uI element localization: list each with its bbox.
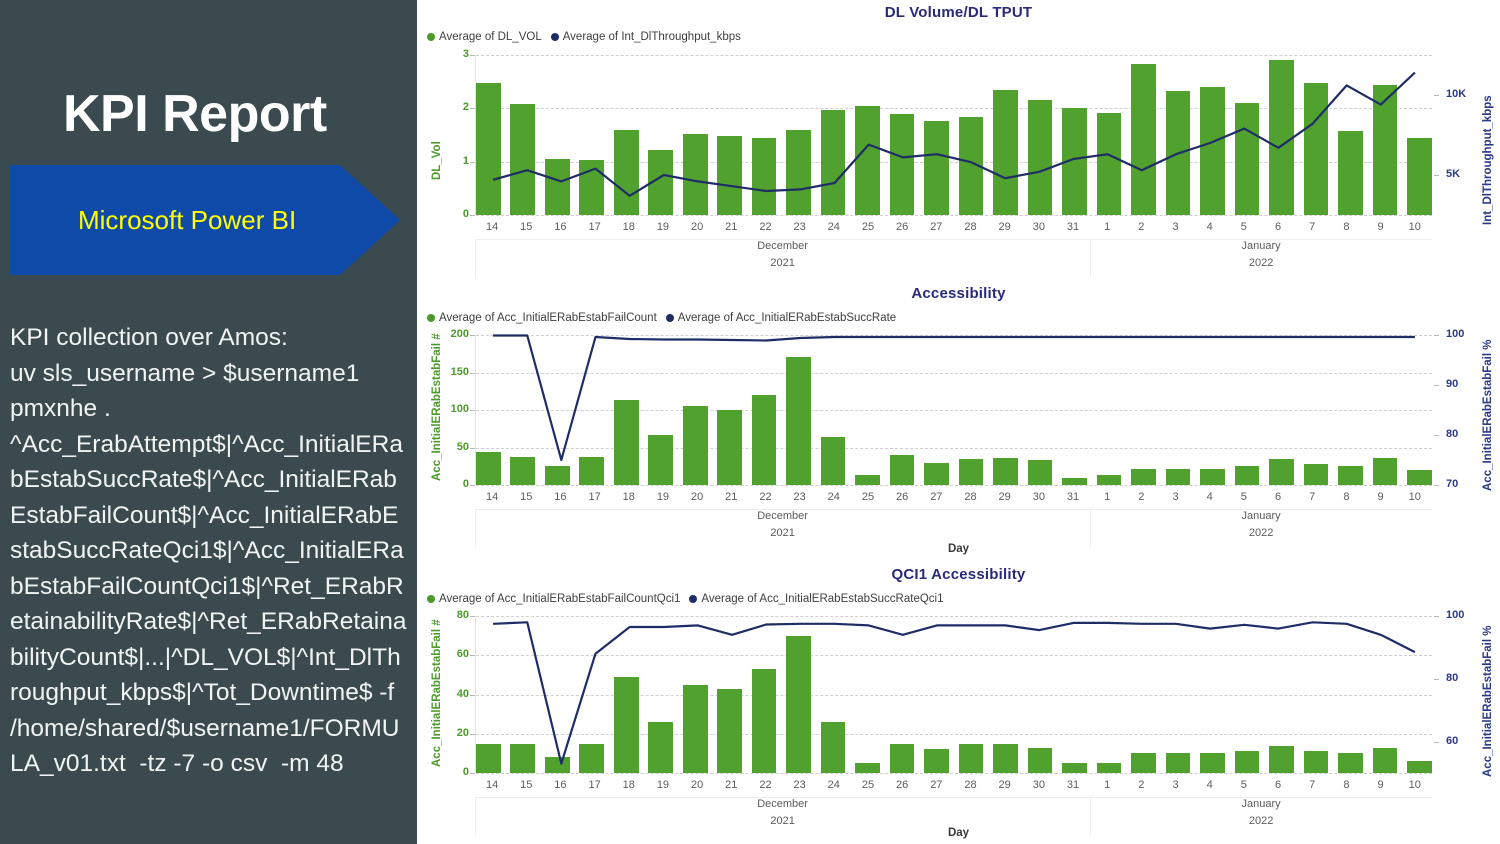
y-tick-label: 80 xyxy=(429,609,469,621)
bar[interactable] xyxy=(1304,751,1329,773)
x-tick-label: 31 xyxy=(1056,221,1090,233)
chart-legend-dl-volume: Average of DL_VOL Average of Int_DlThrou… xyxy=(427,31,741,43)
x-tick-label: 10 xyxy=(1398,779,1432,791)
y2-tick-mark xyxy=(1434,335,1439,336)
y-tick-mark xyxy=(470,55,475,56)
y-tick-label: 0 xyxy=(429,208,469,220)
y-tick-mark xyxy=(470,373,475,374)
bar[interactable] xyxy=(1304,464,1329,485)
y-tick-label: 150 xyxy=(429,366,469,378)
plot-area-bar-1[interactable] xyxy=(475,335,1432,485)
y-tick-mark xyxy=(470,410,475,411)
legend-label-fail-count-qci1: Average of Acc_InitialERabEstabFailCount… xyxy=(439,593,680,605)
y2-tick-label: 80 xyxy=(1446,428,1492,440)
x-tick-label: 9 xyxy=(1363,491,1397,503)
bar[interactable] xyxy=(1200,469,1225,485)
y2-tick-label: 100 xyxy=(1446,328,1492,340)
x-tick-label: 16 xyxy=(543,221,577,233)
y-tick-mark xyxy=(470,335,475,336)
x-tick-label: 5 xyxy=(1227,491,1261,503)
legend-item-fail-count[interactable]: Average of Acc_InitialERabEstabFailCount xyxy=(427,312,657,324)
x-tick-label: 29 xyxy=(988,221,1022,233)
x-tick-label: 17 xyxy=(578,491,612,503)
x-tick-label: 15 xyxy=(509,221,543,233)
legend-label-fail-count: Average of Acc_InitialERabEstabFailCount xyxy=(439,312,657,324)
bar[interactable] xyxy=(1166,753,1191,773)
bar[interactable] xyxy=(1062,763,1087,773)
x-tick-label: 21 xyxy=(714,221,748,233)
bar[interactable] xyxy=(890,114,915,215)
y2-tick-label: 10K xyxy=(1446,88,1492,100)
x-tick-label: 7 xyxy=(1295,491,1329,503)
kpi-report-page: KPI Report Microsoft Power BI KPI collec… xyxy=(0,0,1500,844)
power-bi-banner: Microsoft Power BI xyxy=(10,165,400,275)
x-axis-tick-row: 1415161718192021222324252627282930311234… xyxy=(475,221,1432,233)
y2-tick-label: 70 xyxy=(1446,478,1492,490)
x-axis-group-divider xyxy=(475,509,476,547)
bar[interactable] xyxy=(717,136,742,215)
chart-title-accessibility: Accessibility xyxy=(417,285,1500,302)
y-tick-mark xyxy=(470,773,475,774)
y2-tick-label: 100 xyxy=(1446,609,1492,621)
bar[interactable] xyxy=(648,722,673,773)
x-axis-month-label: January xyxy=(1201,798,1321,810)
y-tick-mark xyxy=(470,448,475,449)
x-tick-label: 30 xyxy=(1022,779,1056,791)
legend-marker-navy-dot-icon xyxy=(689,595,697,603)
bar[interactable] xyxy=(959,117,984,215)
y2-tick-mark xyxy=(1434,485,1439,486)
bar[interactable] xyxy=(752,138,777,215)
y-tick-label: 2 xyxy=(429,101,469,113)
x-axis-group-divider xyxy=(475,239,476,277)
x-tick-label: 3 xyxy=(1158,221,1192,233)
bar[interactable] xyxy=(821,722,846,773)
x-tick-label: 15 xyxy=(509,491,543,503)
x-axis-month-label: January xyxy=(1201,510,1321,522)
bar[interactable] xyxy=(855,475,880,486)
x-tick-label: 20 xyxy=(680,221,714,233)
x-tick-label: 24 xyxy=(817,491,851,503)
x-axis-year-label: 2022 xyxy=(1201,257,1321,269)
x-tick-label: 3 xyxy=(1158,779,1192,791)
x-tick-label: 19 xyxy=(646,221,680,233)
x-tick-label: 1 xyxy=(1090,779,1124,791)
x-tick-label: 23 xyxy=(783,221,817,233)
power-bi-label: Microsoft Power BI xyxy=(78,165,296,275)
bar[interactable] xyxy=(1200,753,1225,773)
x-axis-tick-row: 1415161718192021222324252627282930311234… xyxy=(475,779,1432,791)
plot-area-bar-0[interactable] xyxy=(475,55,1432,215)
x-tick-label: 26 xyxy=(885,779,919,791)
y-tick-label: 60 xyxy=(429,648,469,660)
x-tick-label: 8 xyxy=(1329,779,1363,791)
bar[interactable] xyxy=(1235,103,1260,215)
bar[interactable] xyxy=(855,106,880,215)
x-tick-label: 27 xyxy=(919,491,953,503)
x-tick-label: 27 xyxy=(919,779,953,791)
bar[interactable] xyxy=(1407,138,1432,215)
bar[interactable] xyxy=(1062,108,1087,215)
gridline xyxy=(476,215,1432,216)
bar[interactable] xyxy=(1131,753,1156,773)
x-axis-year-label: 2021 xyxy=(723,527,843,539)
x-axis-group-divider xyxy=(475,797,476,835)
x-tick-label: 15 xyxy=(509,779,543,791)
chart-legend-qci1: Average of Acc_InitialERabEstabFailCount… xyxy=(427,593,943,605)
bar[interactable] xyxy=(786,357,811,485)
legend-item-dl-vol[interactable]: Average of DL_VOL xyxy=(427,31,542,43)
y2-tick-mark xyxy=(1434,742,1439,743)
y-tick-label: 1 xyxy=(429,155,469,167)
y-tick-mark xyxy=(470,162,475,163)
legend-label-succ-rate-qci1: Average of Acc_InitialERabEstabSuccRateQ… xyxy=(701,593,943,605)
legend-item-fail-count-qci1[interactable]: Average of Acc_InitialERabEstabFailCount… xyxy=(427,593,680,605)
bar[interactable] xyxy=(924,463,949,485)
x-tick-label: 1 xyxy=(1090,221,1124,233)
bar[interactable] xyxy=(752,395,777,485)
x-tick-label: 28 xyxy=(953,221,987,233)
x-tick-label: 1 xyxy=(1090,491,1124,503)
bar[interactable] xyxy=(1062,478,1087,485)
bar[interactable] xyxy=(1097,113,1122,215)
gridline xyxy=(476,773,1432,774)
bar[interactable] xyxy=(476,452,501,485)
x-tick-label: 25 xyxy=(851,221,885,233)
bar[interactable] xyxy=(614,400,639,486)
x-tick-label: 14 xyxy=(475,491,509,503)
y-tick-label: 20 xyxy=(429,727,469,739)
y-tick-label: 0 xyxy=(429,766,469,778)
bar[interactable] xyxy=(614,130,639,215)
x-axis-month-label: December xyxy=(723,240,843,252)
bar-series xyxy=(476,55,1432,215)
x-axis-month-label: December xyxy=(723,510,843,522)
x-tick-label: 7 xyxy=(1295,221,1329,233)
y-tick-label: 50 xyxy=(429,441,469,453)
chart-panel-dl-volume-tput[interactable]: DL Volume/DL TPUT Average of DL_VOL Aver… xyxy=(417,0,1500,281)
bar[interactable] xyxy=(752,669,777,773)
y2-tick-mark xyxy=(1434,175,1439,176)
x-tick-label: 4 xyxy=(1193,779,1227,791)
y2-tick-label: 90 xyxy=(1446,378,1492,390)
x-tick-label: 14 xyxy=(475,221,509,233)
x-tick-label: 16 xyxy=(543,491,577,503)
x-tick-label: 29 xyxy=(988,779,1022,791)
bar[interactable] xyxy=(1166,469,1191,485)
bar[interactable] xyxy=(821,437,846,485)
x-tick-label: 25 xyxy=(851,779,885,791)
bar[interactable] xyxy=(648,150,673,215)
x-tick-label: 6 xyxy=(1261,221,1295,233)
bar[interactable] xyxy=(683,134,708,215)
bar[interactable] xyxy=(1338,131,1363,215)
x-tick-label: 9 xyxy=(1363,779,1397,791)
x-tick-label: 3 xyxy=(1158,491,1192,503)
x-tick-label: 2 xyxy=(1124,779,1158,791)
bar[interactable] xyxy=(476,744,501,773)
bar[interactable] xyxy=(786,130,811,215)
chart-legend-accessibility: Average of Acc_InitialERabEstabFailCount… xyxy=(427,312,896,324)
legend-marker-green-dot-icon xyxy=(427,595,435,603)
bar[interactable] xyxy=(579,160,604,215)
x-axis-year-label: 2022 xyxy=(1201,527,1321,539)
bar[interactable] xyxy=(1373,458,1398,485)
bar[interactable] xyxy=(1028,100,1053,215)
y2-axis-title-estab-fail-pct-qci1: Acc_InitialERabEstabFail % xyxy=(1482,626,1494,777)
bar[interactable] xyxy=(1407,470,1432,485)
bar[interactable] xyxy=(614,677,639,773)
x-tick-label: 17 xyxy=(578,779,612,791)
bar[interactable] xyxy=(924,749,949,773)
legend-item-succ-rate-qci1[interactable]: Average of Acc_InitialERabEstabSuccRateQ… xyxy=(689,593,943,605)
x-tick-label: 19 xyxy=(646,779,680,791)
x-tick-label: 20 xyxy=(680,491,714,503)
bar[interactable] xyxy=(510,744,535,773)
bar[interactable] xyxy=(821,110,846,215)
legend-label-dl-vol: Average of DL_VOL xyxy=(439,31,542,43)
x-tick-label: 14 xyxy=(475,779,509,791)
bar[interactable] xyxy=(1166,91,1191,215)
bar[interactable] xyxy=(890,744,915,773)
bar[interactable] xyxy=(993,744,1018,773)
y-tick-label: 100 xyxy=(429,403,469,415)
y-tick-mark xyxy=(470,485,475,486)
x-tick-label: 7 xyxy=(1295,779,1329,791)
y2-tick-mark xyxy=(1434,616,1439,617)
bar[interactable] xyxy=(545,159,570,215)
bar[interactable] xyxy=(1269,459,1294,485)
x-tick-label: 23 xyxy=(783,779,817,791)
bar[interactable] xyxy=(1269,60,1294,215)
x-tick-label: 23 xyxy=(783,491,817,503)
legend-item-dl-tput[interactable]: Average of Int_DlThroughput_kbps xyxy=(551,31,741,43)
x-axis-label-day: Day xyxy=(417,543,1500,555)
plot-area-bar-2[interactable] xyxy=(475,616,1432,773)
x-tick-label: 18 xyxy=(612,491,646,503)
legend-marker-navy-dot-icon xyxy=(666,314,674,322)
y2-tick-label: 5K xyxy=(1446,168,1492,180)
bar[interactable] xyxy=(510,457,535,486)
x-axis-month-label: January xyxy=(1201,240,1321,252)
y2-tick-mark xyxy=(1434,435,1439,436)
x-tick-label: 8 xyxy=(1329,491,1363,503)
x-tick-label: 5 xyxy=(1227,221,1261,233)
chart-title-dl-volume: DL Volume/DL TPUT xyxy=(417,4,1500,21)
bar[interactable] xyxy=(579,744,604,773)
x-tick-label: 10 xyxy=(1398,491,1432,503)
x-tick-label: 21 xyxy=(714,779,748,791)
bar[interactable] xyxy=(1373,748,1398,774)
chart-panel-qci1-accessibility[interactable]: QCI1 Accessibility Average of Acc_Initia… xyxy=(417,562,1500,844)
bar[interactable] xyxy=(717,689,742,773)
bar[interactable] xyxy=(959,744,984,773)
y-tick-label: 40 xyxy=(429,688,469,700)
bar[interactable] xyxy=(1407,761,1432,773)
bar[interactable] xyxy=(1304,83,1329,215)
x-tick-label: 22 xyxy=(748,491,782,503)
bar[interactable] xyxy=(1338,466,1363,486)
legend-marker-navy-dot-icon xyxy=(551,33,559,41)
y2-axis-title-dl-tput: Int_DlThroughput_kbps xyxy=(1482,95,1494,225)
bar[interactable] xyxy=(959,459,984,485)
x-tick-label: 2 xyxy=(1124,221,1158,233)
x-tick-label: 28 xyxy=(953,491,987,503)
bar[interactable] xyxy=(1373,85,1398,215)
legend-marker-green-dot-icon xyxy=(427,33,435,41)
bar[interactable] xyxy=(1235,466,1260,485)
x-tick-label: 30 xyxy=(1022,221,1056,233)
x-tick-label: 6 xyxy=(1261,779,1295,791)
legend-item-succ-rate[interactable]: Average of Acc_InitialERabEstabSuccRate xyxy=(666,312,896,324)
bar[interactable] xyxy=(1131,469,1156,486)
y-tick-label: 200 xyxy=(429,328,469,340)
x-axis-month-label: December xyxy=(723,798,843,810)
page-title: KPI Report xyxy=(63,84,327,144)
bar[interactable] xyxy=(1338,753,1363,773)
y2-tick-mark xyxy=(1434,95,1439,96)
kpi-command-text: KPI collection over Amos: uv sls_usernam… xyxy=(10,320,408,782)
y2-tick-mark xyxy=(1434,385,1439,386)
bar-series xyxy=(476,616,1432,773)
bar[interactable] xyxy=(648,435,673,485)
y-tick-mark xyxy=(470,108,475,109)
x-axis-group-divider xyxy=(1090,797,1091,835)
x-tick-label: 17 xyxy=(578,221,612,233)
bar[interactable] xyxy=(579,457,604,486)
bar[interactable] xyxy=(1200,87,1225,215)
bar[interactable] xyxy=(890,455,915,485)
y2-tick-mark xyxy=(1434,679,1439,680)
gridline xyxy=(476,485,1432,486)
y2-tick-label: 80 xyxy=(1446,672,1492,684)
x-tick-label: 27 xyxy=(919,221,953,233)
x-tick-label: 31 xyxy=(1056,779,1090,791)
charts-area: DL Volume/DL TPUT Average of DL_VOL Aver… xyxy=(417,0,1500,844)
chart-panel-accessibility[interactable]: Accessibility Average of Acc_InitialERab… xyxy=(417,281,1500,562)
bar[interactable] xyxy=(924,121,949,215)
x-tick-label: 22 xyxy=(748,221,782,233)
bar[interactable] xyxy=(993,90,1018,215)
x-axis-year-label: 2021 xyxy=(723,815,843,827)
y-tick-mark xyxy=(470,215,475,216)
bar[interactable] xyxy=(855,763,880,773)
x-axis-label-day-qci1: Day xyxy=(417,827,1500,839)
left-info-panel: KPI Report Microsoft Power BI KPI collec… xyxy=(0,0,417,844)
x-tick-label: 4 xyxy=(1193,491,1227,503)
x-tick-label: 24 xyxy=(817,779,851,791)
x-tick-label: 18 xyxy=(612,779,646,791)
x-axis-group-divider xyxy=(1090,239,1091,277)
x-axis-year-label: 2022 xyxy=(1201,815,1321,827)
legend-marker-green-dot-icon xyxy=(427,314,435,322)
x-tick-label: 26 xyxy=(885,491,919,503)
bar[interactable] xyxy=(1235,751,1260,773)
y2-axis-title-estab-fail-pct: Acc_InitialERabEstabFail % xyxy=(1482,340,1494,491)
bar[interactable] xyxy=(786,636,811,773)
chart-title-qci1-accessibility: QCI1 Accessibility xyxy=(417,566,1500,583)
x-tick-label: 4 xyxy=(1193,221,1227,233)
x-tick-label: 2 xyxy=(1124,491,1158,503)
bar[interactable] xyxy=(545,466,570,485)
x-tick-label: 22 xyxy=(748,779,782,791)
y-tick-mark xyxy=(470,734,475,735)
x-tick-label: 8 xyxy=(1329,221,1363,233)
x-tick-label: 21 xyxy=(714,491,748,503)
bar[interactable] xyxy=(1097,763,1122,773)
bar[interactable] xyxy=(717,410,742,485)
x-tick-label: 31 xyxy=(1056,491,1090,503)
x-tick-label: 24 xyxy=(817,221,851,233)
x-tick-label: 30 xyxy=(1022,491,1056,503)
bar[interactable] xyxy=(1097,475,1122,485)
x-tick-label: 26 xyxy=(885,221,919,233)
bar[interactable] xyxy=(510,104,535,215)
bar[interactable] xyxy=(1131,64,1156,215)
x-tick-label: 19 xyxy=(646,491,680,503)
x-tick-label: 10 xyxy=(1398,221,1432,233)
bar[interactable] xyxy=(1028,748,1053,774)
bar[interactable] xyxy=(683,406,708,485)
bar[interactable] xyxy=(993,458,1018,485)
y-tick-label: 3 xyxy=(429,48,469,60)
x-tick-label: 20 xyxy=(680,779,714,791)
x-tick-label: 6 xyxy=(1261,491,1295,503)
x-tick-label: 18 xyxy=(612,221,646,233)
y-tick-mark xyxy=(470,655,475,656)
bar[interactable] xyxy=(1269,746,1294,773)
y2-tick-label: 60 xyxy=(1446,735,1492,747)
y-tick-mark xyxy=(470,616,475,617)
bar[interactable] xyxy=(476,83,501,215)
bar[interactable] xyxy=(1028,460,1053,485)
x-tick-label: 5 xyxy=(1227,779,1261,791)
x-axis-year-label: 2021 xyxy=(723,257,843,269)
y-tick-label: 0 xyxy=(429,478,469,490)
bar[interactable] xyxy=(683,685,708,773)
bar[interactable] xyxy=(545,757,570,773)
x-axis-group-divider xyxy=(1090,509,1091,547)
x-tick-label: 29 xyxy=(988,491,1022,503)
bar-series xyxy=(476,335,1432,485)
y-tick-mark xyxy=(470,695,475,696)
x-tick-label: 28 xyxy=(953,779,987,791)
x-tick-label: 9 xyxy=(1363,221,1397,233)
x-tick-label: 16 xyxy=(543,779,577,791)
legend-label-dl-tput: Average of Int_DlThroughput_kbps xyxy=(563,31,741,43)
x-axis-tick-row: 1415161718192021222324252627282930311234… xyxy=(475,491,1432,503)
x-tick-label: 25 xyxy=(851,491,885,503)
legend-label-succ-rate: Average of Acc_InitialERabEstabSuccRate xyxy=(678,312,896,324)
